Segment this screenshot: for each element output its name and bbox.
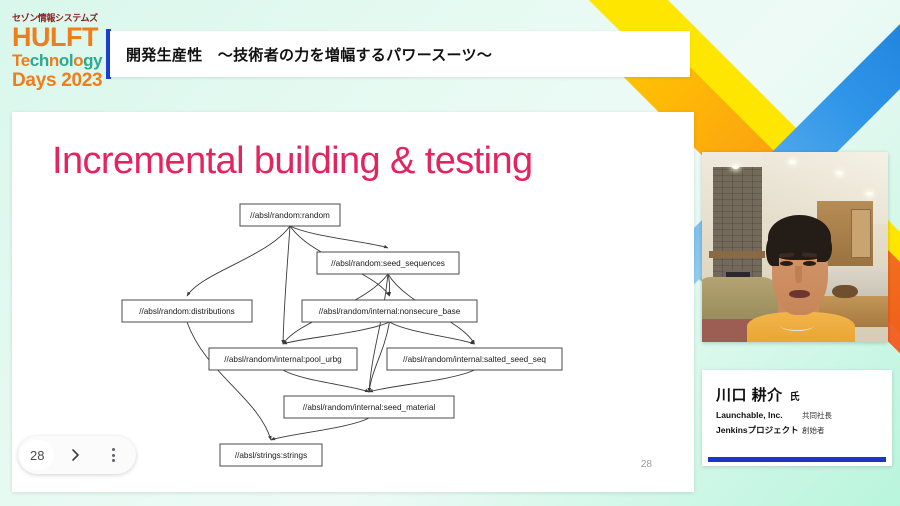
graph-edge	[369, 274, 388, 392]
slide-panel[interactable]: Incremental building & testing //absl/ra…	[12, 112, 694, 492]
slide-title: Incremental building & testing	[52, 140, 533, 183]
speaker-affiliation-row: Launchable, Inc.共同社長	[716, 410, 832, 421]
brand-technology-text: Technology	[12, 52, 110, 69]
presentation-stage: セゾン情報システムズ HULFT Technology Days 2023 開発…	[0, 0, 900, 506]
slide-page-number: 28	[641, 459, 652, 470]
graph-node: //absl/random:seed_sequences	[317, 252, 459, 274]
speaker-name-card: 川口 耕介氏 Launchable, Inc.共同社長Jenkinsプロジェクト…	[702, 370, 892, 466]
graph-edge	[290, 226, 388, 248]
graph-node-label: //absl/random/internal:pool_urbg	[224, 355, 342, 364]
graph-node-label: //absl/random:distributions	[139, 307, 235, 316]
graph-node-label: //absl/random/internal:salted_seed_seq	[403, 355, 546, 364]
speaker-affiliation-row: Jenkinsプロジェクト創始者	[716, 424, 832, 436]
graph-edge	[369, 322, 390, 392]
session-header-bar: 開発生産性 〜技術者の力を増幅するパワースーツ〜	[110, 31, 690, 77]
graph-edge	[390, 322, 475, 344]
session-title: 開発生産性 〜技術者の力を増幅するパワースーツ〜	[126, 44, 492, 65]
speaker-role: 共同社長	[802, 410, 832, 421]
more-options-icon[interactable]	[96, 440, 130, 470]
graph-node: //absl/random:random	[240, 204, 340, 226]
speaker-card-underline	[708, 457, 886, 462]
graph-node: //absl/random/internal:salted_seed_seq	[387, 348, 562, 370]
graph-edge	[369, 370, 475, 392]
next-slide-icon[interactable]	[58, 440, 92, 470]
dependency-graph-svg: //absl/random:random//absl/random:seed_s…	[12, 196, 694, 476]
graph-edge	[388, 274, 390, 296]
graph-node: //absl/random/internal:seed_material	[284, 396, 454, 418]
brand-logo: セゾン情報システムズ HULFT Technology Days 2023	[12, 14, 110, 90]
graph-node-label: //absl/random/internal:nonsecure_base	[319, 307, 461, 316]
brand-hulft-text: HULFT	[12, 24, 110, 51]
speaker-name: 川口 耕介氏	[716, 384, 800, 405]
speaker-affiliations: Launchable, Inc.共同社長Jenkinsプロジェクト創始者	[716, 410, 832, 439]
graph-node: //absl/random/internal:nonsecure_base	[302, 300, 477, 322]
current-slide-number[interactable]: 28	[20, 440, 54, 470]
graph-node-label: //absl/random/internal:seed_material	[303, 403, 436, 412]
graph-node-label: //absl/strings:strings	[235, 451, 307, 460]
graph-node: //absl/random:distributions	[122, 300, 252, 322]
graph-node: //absl/random/internal:pool_urbg	[209, 348, 357, 370]
graph-edge	[283, 322, 390, 344]
graph-node-label: //absl/random:random	[250, 211, 330, 220]
graph-edge	[283, 370, 369, 392]
presenter-video-tile[interactable]	[702, 152, 888, 342]
dependency-graph: //absl/random:random//absl/random:seed_s…	[12, 196, 694, 476]
speaker-org: Jenkinsプロジェクト	[716, 424, 802, 436]
slide-navigation-controls[interactable]: 28	[18, 436, 136, 474]
graph-edge	[187, 226, 290, 296]
video-frame-content	[702, 152, 888, 342]
speaker-org: Launchable, Inc.	[716, 410, 802, 420]
speaker-name-suffix: 氏	[790, 392, 801, 403]
graph-node-label: //absl/random:seed_sequences	[331, 259, 445, 268]
speaker-role: 創始者	[802, 425, 825, 436]
graph-edge	[187, 322, 271, 440]
brand-days-text: Days 2023	[12, 71, 110, 90]
graph-edge	[271, 418, 369, 440]
graph-edge	[283, 226, 290, 344]
speaker-name-text: 川口 耕介	[716, 387, 783, 404]
graph-node: //absl/strings:strings	[220, 444, 322, 466]
